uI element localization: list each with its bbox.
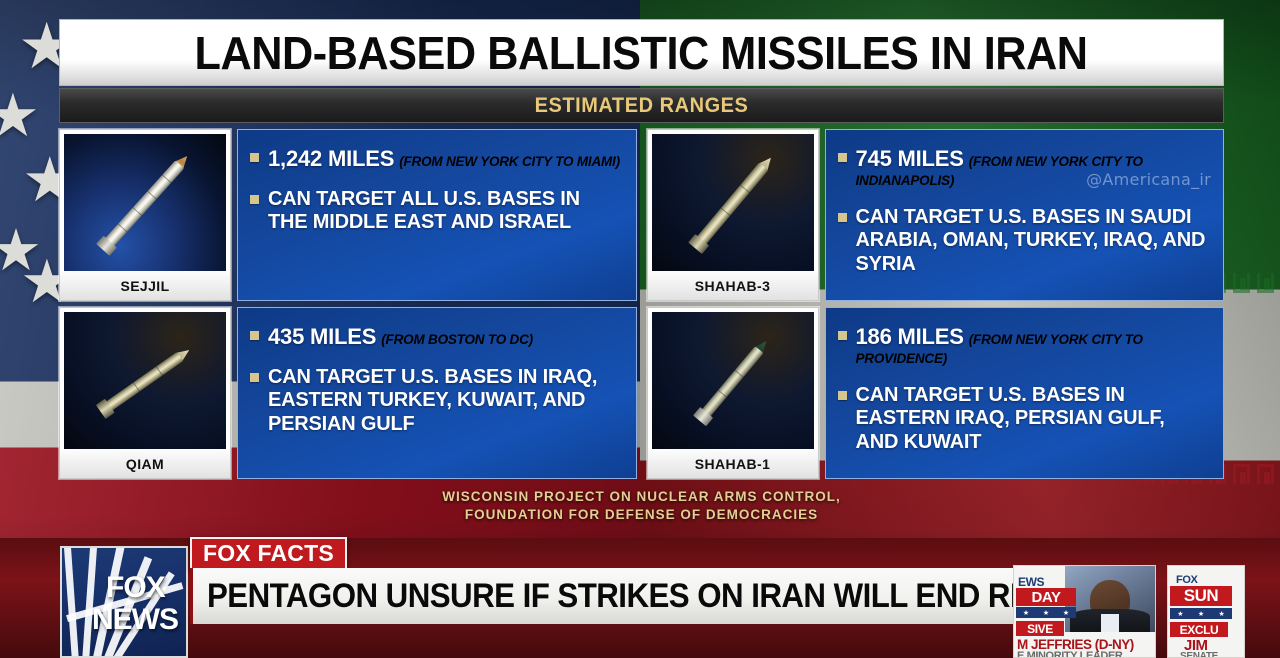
bullet-icon bbox=[838, 391, 847, 400]
missile-illustration bbox=[98, 152, 191, 254]
range-comparison: (FROM BOSTON TO DC) bbox=[381, 332, 533, 347]
promo-stars-icon: ★★★ bbox=[1170, 608, 1232, 619]
missile-thumbnail-sejjil: SEJJIL bbox=[59, 129, 231, 301]
missile-name-label: SHAHAB-3 bbox=[648, 271, 818, 300]
range-value: 1,242 MILES bbox=[268, 146, 394, 171]
missile-name-label: QIAM bbox=[60, 449, 230, 478]
page-title: LAND-BASED BALLISTIC MISSILES IN IRAN bbox=[195, 26, 1088, 80]
person-shirt bbox=[1101, 614, 1119, 631]
range-text: 435 MILES(FROM BOSTON TO DC) bbox=[268, 324, 622, 350]
capability-row: CAN TARGET ALL U.S. BASES IN THE MIDDLE … bbox=[250, 188, 622, 235]
missile-info-panel: 186 MILES(FROM NEW YORK CITY TO PROVIDEN… bbox=[825, 307, 1225, 479]
range-value: 186 MILES bbox=[856, 324, 964, 349]
missile-illustration bbox=[690, 153, 775, 251]
promo-stars-icon: ★★★ bbox=[1016, 607, 1076, 618]
missile-card-grid: SEJJIL 1,242 MILES(FROM NEW YORK CITY TO… bbox=[59, 129, 1224, 479]
source-line-1: WISCONSIN PROJECT ON NUCLEAR ARMS CONTRO… bbox=[59, 488, 1224, 506]
promo-tag: EXCLU bbox=[1170, 622, 1228, 637]
missile-infographic: LAND-BASED BALLISTIC MISSILES IN IRAN ES… bbox=[59, 19, 1224, 531]
missile-image bbox=[64, 134, 226, 271]
promo-photo bbox=[1065, 566, 1155, 632]
promo-kicker: EWS bbox=[1018, 575, 1044, 589]
range-text: 186 MILES(FROM NEW YORK CITY TO PROVIDEN… bbox=[856, 324, 1210, 368]
missile-name-label: SEJJIL bbox=[60, 271, 230, 300]
missile-name-label: SHAHAB-1 bbox=[648, 449, 818, 478]
range-value: 435 MILES bbox=[268, 324, 376, 349]
capability-text: CAN TARGET U.S. BASES IN SAUDI ARABIA, O… bbox=[856, 206, 1210, 276]
missile-card-shahab-3: SHAHAB-3 @Americana_ir 745 MILES(FROM NE… bbox=[647, 129, 1225, 301]
bullet-icon bbox=[838, 153, 847, 162]
range-row: 435 MILES(FROM BOSTON TO DC) bbox=[250, 324, 622, 350]
bullet-icon bbox=[838, 213, 847, 222]
promo-kicker: FOX bbox=[1176, 574, 1197, 586]
bullet-icon bbox=[250, 373, 259, 382]
promo-show: DAY bbox=[1016, 588, 1076, 606]
missile-thumbnail-qiam: QIAM bbox=[59, 307, 231, 479]
headline-text: PENTAGON UNSURE IF STRIKES ON IRAN WILL … bbox=[207, 577, 1108, 616]
fox-news-logo: FOX NEWS bbox=[60, 546, 188, 658]
promo-guest-role: SENATE bbox=[1180, 651, 1218, 658]
capability-row: CAN TARGET U.S. BASES IN SAUDI ARABIA, O… bbox=[838, 206, 1210, 276]
promo-thumbnail-jeffries[interactable]: EWS DAY ★★★ SIVE M JEFFRIES (D-NY) E MIN… bbox=[1013, 565, 1156, 658]
missile-info-panel: 435 MILES(FROM BOSTON TO DC) CAN TARGET … bbox=[237, 307, 637, 479]
missile-image bbox=[64, 312, 226, 449]
news-wordmark: NEWS bbox=[92, 606, 178, 635]
bullet-icon bbox=[838, 331, 847, 340]
missile-illustration bbox=[98, 345, 193, 416]
bullet-icon bbox=[250, 195, 259, 204]
missile-info-panel: @Americana_ir 745 MILES(FROM NEW YORK CI… bbox=[825, 129, 1225, 301]
fox-facts-badge: FOX FACTS bbox=[190, 537, 347, 571]
promo-guest-role: E MINORITY LEADER bbox=[1017, 650, 1122, 658]
bullet-icon bbox=[250, 331, 259, 340]
star-icon: ★ bbox=[0, 86, 40, 146]
graphic-subtitle: ESTIMATED RANGES bbox=[535, 94, 749, 118]
missile-image bbox=[652, 134, 814, 271]
capability-text: CAN TARGET U.S. BASES IN IRAQ, EASTERN T… bbox=[268, 366, 622, 436]
capability-text: CAN TARGET U.S. BASES IN EASTERN IRAQ, P… bbox=[856, 384, 1210, 454]
range-text: 1,242 MILES(FROM NEW YORK CITY TO MIAMI) bbox=[268, 146, 622, 172]
missile-thumbnail-shahab-1: SHAHAB-1 bbox=[647, 307, 819, 479]
promo-thumbnail-sunday[interactable]: FOX SUN ★★★ EXCLU JIM SENATE bbox=[1167, 565, 1245, 658]
promo-show: SUN bbox=[1170, 586, 1232, 606]
range-row: 745 MILES(FROM NEW YORK CITY TO INDIANAP… bbox=[838, 146, 1210, 190]
source-attribution: WISCONSIN PROJECT ON NUCLEAR ARMS CONTRO… bbox=[59, 488, 1224, 524]
missile-card-shahab-1: SHAHAB-1 186 MILES(FROM NEW YORK CITY TO… bbox=[647, 307, 1225, 479]
range-text: 745 MILES(FROM NEW YORK CITY TO INDIANAP… bbox=[856, 146, 1210, 190]
range-value: 745 MILES bbox=[856, 146, 964, 171]
missile-image bbox=[652, 312, 814, 449]
missile-thumbnail-shahab-3: SHAHAB-3 bbox=[647, 129, 819, 301]
range-row: 186 MILES(FROM NEW YORK CITY TO PROVIDEN… bbox=[838, 324, 1210, 368]
promo-tag: SIVE bbox=[1016, 621, 1064, 636]
headline-bar: PENTAGON UNSURE IF STRIKES ON IRAN WILL … bbox=[190, 568, 1016, 624]
capability-row: CAN TARGET U.S. BASES IN EASTERN IRAQ, P… bbox=[838, 384, 1210, 454]
missile-card-qiam: QIAM 435 MILES(FROM BOSTON TO DC) CAN TA… bbox=[59, 307, 637, 479]
missile-illustration bbox=[695, 337, 770, 424]
capability-text: CAN TARGET ALL U.S. BASES IN THE MIDDLE … bbox=[268, 188, 622, 235]
missile-card-sejjil: SEJJIL 1,242 MILES(FROM NEW YORK CITY TO… bbox=[59, 129, 637, 301]
range-row: 1,242 MILES(FROM NEW YORK CITY TO MIAMI) bbox=[250, 146, 622, 172]
graphic-subtitle-bar: ESTIMATED RANGES bbox=[59, 88, 1224, 123]
fox-wordmark: FOX bbox=[106, 574, 165, 603]
capability-row: CAN TARGET U.S. BASES IN IRAQ, EASTERN T… bbox=[250, 366, 622, 436]
bullet-icon bbox=[250, 153, 259, 162]
graphic-title-bar: LAND-BASED BALLISTIC MISSILES IN IRAN bbox=[59, 19, 1224, 86]
missile-info-panel: 1,242 MILES(FROM NEW YORK CITY TO MIAMI)… bbox=[237, 129, 637, 301]
range-comparison: (FROM NEW YORK CITY TO MIAMI) bbox=[399, 154, 620, 169]
source-line-2: FOUNDATION FOR DEFENSE OF DEMOCRACIES bbox=[59, 506, 1224, 524]
